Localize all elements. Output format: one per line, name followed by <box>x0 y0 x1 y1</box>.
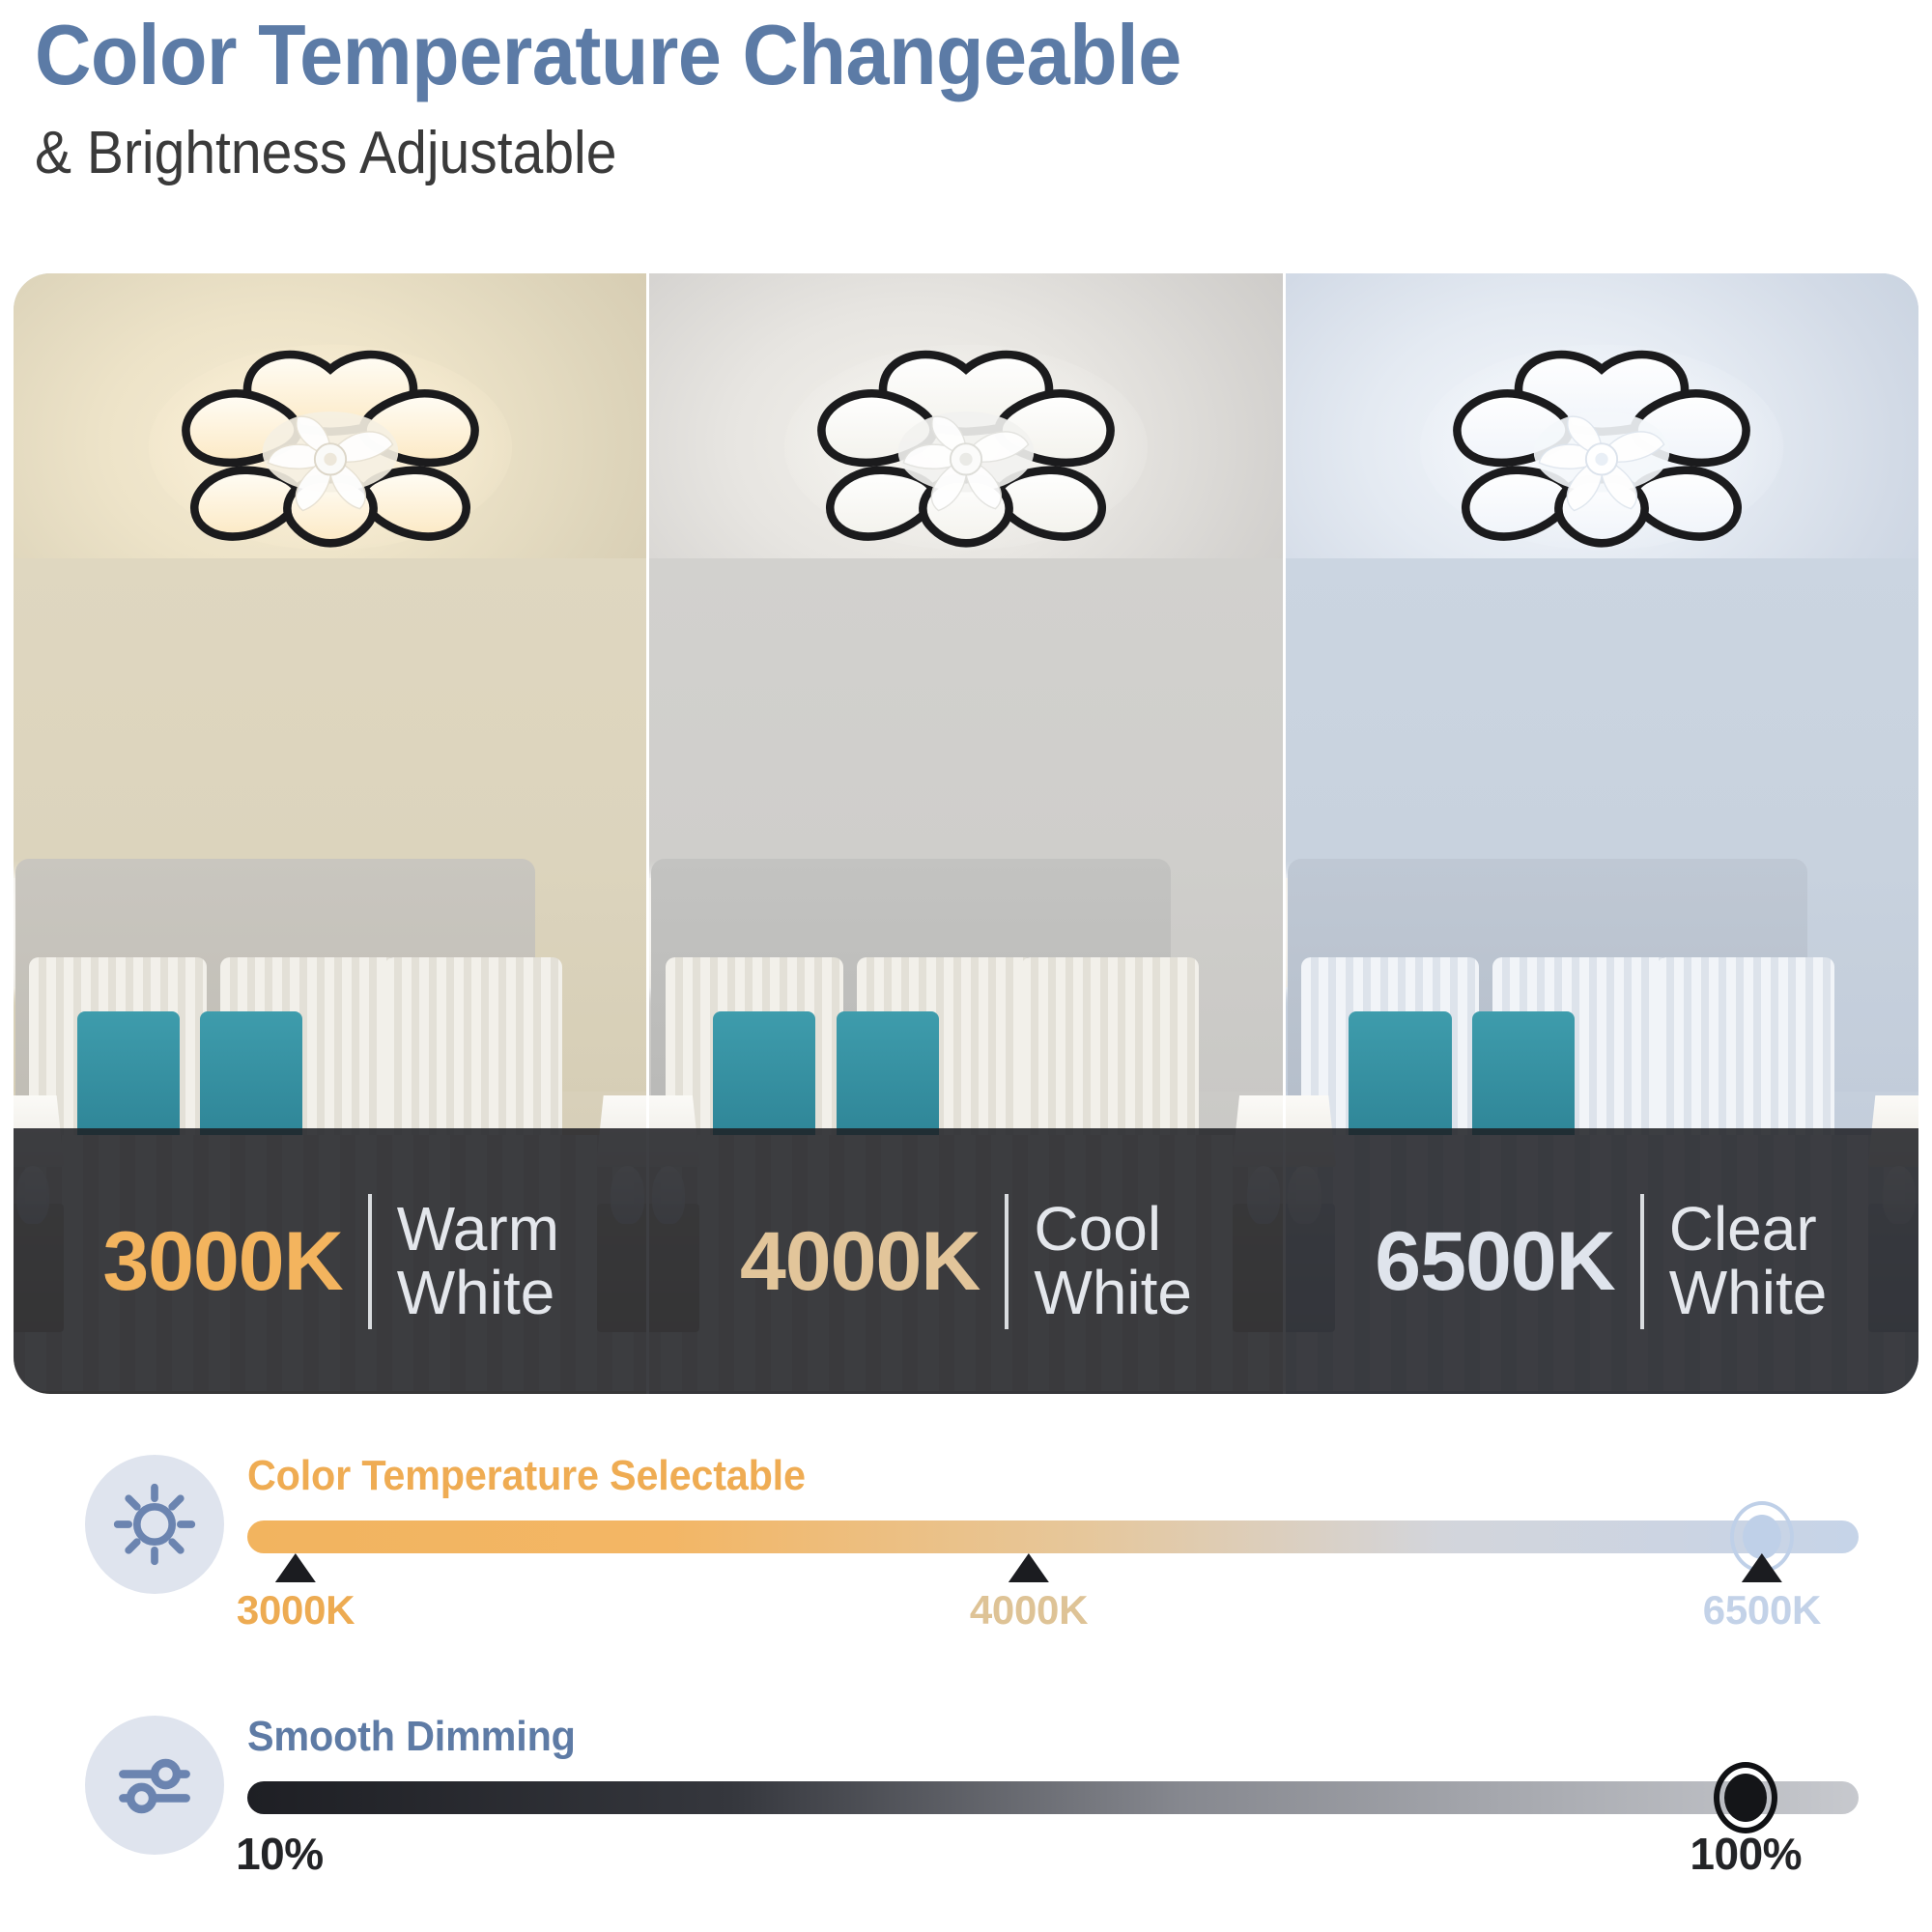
ceiling-fan-light-fixture <box>782 342 1150 554</box>
pillow-large <box>384 957 562 1154</box>
pillow-teal <box>77 1011 180 1145</box>
band-cell-3000k: 3000K Warm White <box>14 1128 648 1394</box>
marker-triangle-icon <box>1009 1553 1049 1582</box>
color-temperature-label: Color Temperature Selectable <box>247 1455 1700 1497</box>
kelvin-name-line2: White <box>1669 1262 1828 1324</box>
ceiling-fan-light-fixture <box>1418 342 1785 554</box>
dimming-slider-track[interactable] <box>247 1781 1859 1814</box>
color-temperature-slider-track[interactable] <box>247 1520 1859 1553</box>
pillow-teal <box>200 1011 302 1145</box>
kelvin-name-line2: White <box>1034 1262 1192 1324</box>
marker-4000k: 4000K <box>970 1553 1088 1631</box>
comparison-panels: 3000K Warm White 4000K Cool White <box>14 273 1918 1394</box>
kelvin-value-4000k: 4000K <box>740 1220 980 1303</box>
kelvin-value-3000k: 3000K <box>102 1220 342 1303</box>
page-title: Color Temperature Changeable <box>35 10 1723 99</box>
dimming-min-label: 10% <box>236 1828 324 1880</box>
color-temperature-body: Color Temperature Selectable 3000K 4000K <box>247 1455 1793 1669</box>
divider <box>368 1194 372 1329</box>
dimming-max-label: 100% <box>1690 1828 1802 1880</box>
marker-triangle-icon <box>275 1553 316 1582</box>
ceiling-fan-light-fixture <box>147 342 514 554</box>
infographic-root: Color Temperature Changeable & Brightnes… <box>0 0 1932 1932</box>
kelvin-name-line1: Warm <box>397 1198 559 1261</box>
sliders-icon <box>110 1741 199 1830</box>
sliders-icon-badge <box>85 1716 224 1855</box>
dimming-range-labels: 10% 100% <box>247 1828 1859 1895</box>
dimming-slider-handle[interactable] <box>1714 1762 1777 1833</box>
pillow-teal <box>1349 1011 1451 1145</box>
marker-triangle-icon <box>1742 1553 1782 1582</box>
marker-label: 6500K <box>1703 1590 1821 1631</box>
pillow-teal <box>713 1011 815 1145</box>
smooth-dimming-label: Smooth Dimming <box>247 1716 1700 1758</box>
header: Color Temperature Changeable & Brightnes… <box>35 10 1870 186</box>
kelvin-name-3000k: Warm White <box>397 1198 559 1324</box>
kelvin-name-line2: White <box>397 1262 559 1324</box>
kelvin-name-line1: Cool <box>1034 1198 1192 1261</box>
divider <box>1005 1194 1009 1329</box>
sun-icon <box>110 1480 199 1569</box>
marker-6500k: 6500K <box>1703 1553 1821 1631</box>
kelvin-name-6500k: Clear White <box>1669 1198 1828 1324</box>
handle-core <box>1724 1774 1767 1822</box>
pillow-large <box>1657 957 1834 1154</box>
sun-icon-badge <box>85 1455 224 1594</box>
color-temperature-markers: 3000K 4000K 6500K <box>247 1553 1859 1669</box>
band-cell-4000k: 4000K Cool White <box>648 1128 1283 1394</box>
page-subtitle: & Brightness Adjustable <box>35 121 1723 186</box>
kelvin-name-line1: Clear <box>1669 1198 1828 1261</box>
kelvin-name-4000k: Cool White <box>1034 1198 1192 1324</box>
pillow-large <box>1021 957 1199 1154</box>
color-temperature-label-band: 3000K Warm White 4000K Cool White <box>14 1128 1918 1394</box>
pillow-teal <box>1472 1011 1575 1145</box>
marker-label: 3000K <box>237 1590 355 1631</box>
band-cell-6500k: 6500K Clear White <box>1284 1128 1918 1394</box>
divider <box>1640 1194 1644 1329</box>
label-band-row: 3000K Warm White 4000K Cool White <box>14 1128 1918 1394</box>
marker-label: 4000K <box>970 1590 1088 1631</box>
kelvin-value-6500k: 6500K <box>1375 1220 1614 1303</box>
smooth-dimming-body: Smooth Dimming 10% 100% <box>247 1716 1793 1895</box>
pillow-teal <box>837 1011 939 1145</box>
marker-3000k: 3000K <box>237 1553 355 1631</box>
